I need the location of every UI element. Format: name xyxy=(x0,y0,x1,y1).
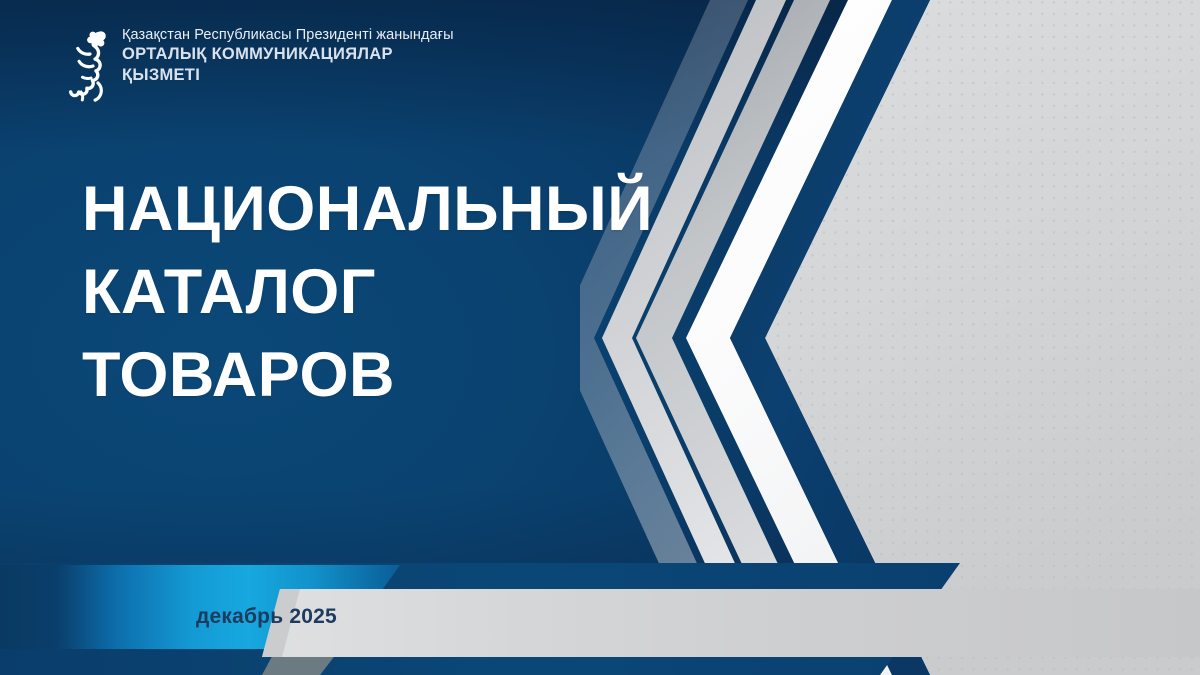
title-line-3: ТОВАРОВ xyxy=(82,334,742,417)
slide-date-label: декабрь 2025 xyxy=(196,605,337,629)
logo-line-org-2: ҚЫЗМЕТІ xyxy=(122,65,454,86)
organization-logo: Қазақстан Республикасы Президенті жанынд… xyxy=(68,26,454,102)
title-line-1: НАЦИОНАЛЬНЫЙ xyxy=(82,168,742,251)
logo-line-president: Қазақстан Республикасы Президенті жанынд… xyxy=(122,26,454,44)
bottom-banner xyxy=(0,545,1200,675)
slide-title: НАЦИОНАЛЬНЫЙ КАТАЛОГ ТОВАРОВ xyxy=(82,168,742,417)
title-line-2: КАТАЛОГ xyxy=(82,251,742,334)
kazakh-barys-emblem-icon xyxy=(68,28,112,102)
logo-text-block: Қазақстан Республикасы Президенті жанынд… xyxy=(122,26,454,86)
title-slide: Қазақстан Республикасы Президенті жанынд… xyxy=(0,0,1200,675)
logo-line-org-1: ОРТАЛЫҚ КОММУНИКАЦИЯЛАР xyxy=(122,44,454,65)
